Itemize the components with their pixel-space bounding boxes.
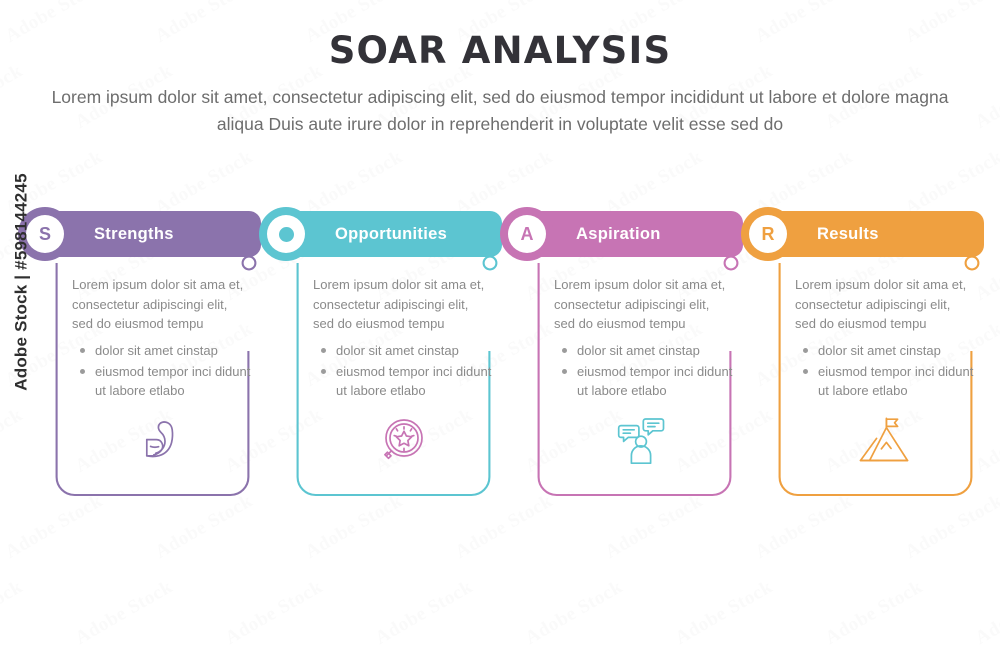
list-item: eiusmod tempor inci didunt ut labore etl… bbox=[78, 362, 256, 401]
card-bullet-list: dolor sit amet cinstapeiusmod tempor inc… bbox=[319, 341, 497, 402]
watermark-side-label: Adobe Stock | #598144245 bbox=[2, 0, 42, 563]
watermark-text: Adobe Stock bbox=[222, 576, 327, 649]
card-letter-badge bbox=[259, 207, 313, 261]
list-item: dolor sit amet cinstap bbox=[801, 341, 979, 361]
soar-card-opportunities[interactable]: OpportunitiesLorem ipsum dolor sit ama e… bbox=[259, 205, 502, 497]
card-header-pill-strengths[interactable]: SStrengths bbox=[32, 211, 261, 257]
card-letter-badge: R bbox=[741, 207, 795, 261]
card-bullet-list: dolor sit amet cinstapeiusmod tempor inc… bbox=[78, 341, 256, 402]
card-header-pill-aspiration[interactable]: AAspiration bbox=[514, 211, 743, 257]
infographic-page: SOAR ANALYSIS Lorem ipsum dolor sit amet… bbox=[0, 0, 1000, 563]
badge-dot bbox=[279, 227, 294, 242]
badge-ring-glyph bbox=[267, 215, 305, 253]
watermark-text: Adobe Stock bbox=[522, 576, 627, 649]
muscle-arm-icon bbox=[72, 402, 250, 480]
list-item: eiusmod tempor inci didunt ut labore etl… bbox=[319, 362, 497, 401]
list-item: dolor sit amet cinstap bbox=[560, 341, 738, 361]
mountain-flag-icon bbox=[795, 402, 973, 480]
card-header-pill-opportunities[interactable]: Opportunities bbox=[273, 211, 502, 257]
watermark-text: Adobe Stock bbox=[672, 576, 777, 649]
page-title: SOAR ANALYSIS bbox=[0, 29, 1000, 72]
card-title: Opportunities bbox=[335, 225, 447, 244]
list-item: dolor sit amet cinstap bbox=[319, 341, 497, 361]
card-paragraph: Lorem ipsum dolor sit ama et, consectetu… bbox=[795, 275, 973, 334]
card-header-pill-results[interactable]: RResults bbox=[755, 211, 984, 257]
card-paragraph: Lorem ipsum dolor sit ama et, consectetu… bbox=[313, 275, 491, 334]
card-title: Strengths bbox=[94, 225, 174, 244]
card-paragraph: Lorem ipsum dolor sit ama et, consectetu… bbox=[72, 275, 250, 334]
page-subtitle: Lorem ipsum dolor sit amet, consectetur … bbox=[50, 84, 950, 138]
magnifier-star-icon bbox=[313, 402, 491, 480]
list-item: dolor sit amet cinstap bbox=[78, 341, 256, 361]
card-paragraph: Lorem ipsum dolor sit ama et, consectetu… bbox=[554, 275, 732, 334]
watermark-side-text: Adobe Stock | #598144245 bbox=[12, 173, 32, 390]
badge-letter: A bbox=[508, 215, 546, 253]
badge-letter: R bbox=[749, 215, 787, 253]
card-title: Results bbox=[817, 225, 879, 244]
watermark-text: Adobe Stock bbox=[72, 576, 177, 649]
watermark-text: Adobe Stock bbox=[372, 576, 477, 649]
list-item: eiusmod tempor inci didunt ut labore etl… bbox=[560, 362, 738, 401]
card-title: Aspiration bbox=[576, 225, 661, 244]
soar-card-strengths[interactable]: SStrengthsLorem ipsum dolor sit ama et, … bbox=[18, 205, 261, 497]
soar-card-results[interactable]: RResultsLorem ipsum dolor sit ama et, co… bbox=[741, 205, 984, 497]
card-bullet-list: dolor sit amet cinstapeiusmod tempor inc… bbox=[560, 341, 738, 402]
list-item: eiusmod tempor inci didunt ut labore etl… bbox=[801, 362, 979, 401]
soar-card-aspiration[interactable]: AAspirationLorem ipsum dolor sit ama et,… bbox=[500, 205, 743, 497]
soar-cards-row: SStrengthsLorem ipsum dolor sit ama et, … bbox=[18, 205, 982, 505]
card-letter-badge: A bbox=[500, 207, 554, 261]
card-bullet-list: dolor sit amet cinstapeiusmod tempor inc… bbox=[801, 341, 979, 402]
watermark-text: Adobe Stock bbox=[972, 576, 1000, 649]
person-speech-bubbles-icon bbox=[554, 402, 732, 480]
watermark-text: Adobe Stock bbox=[822, 576, 927, 649]
watermark-text: Adobe Stock bbox=[0, 576, 27, 649]
